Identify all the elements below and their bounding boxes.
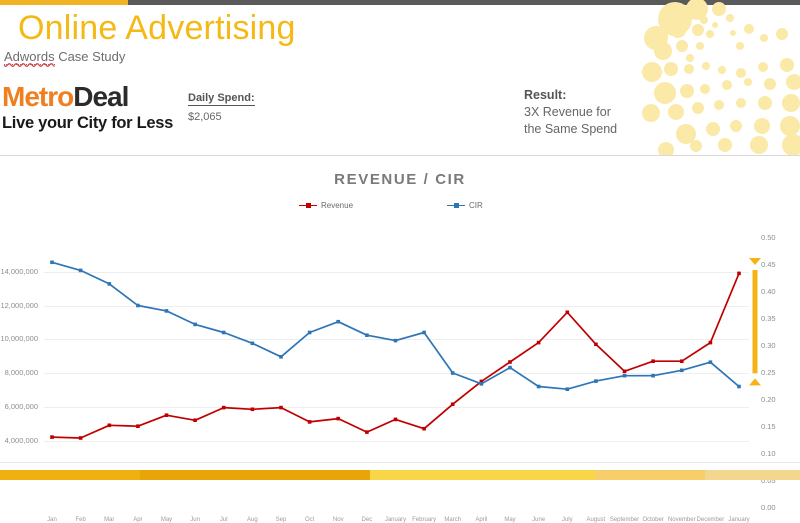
y-axis-left-tick-label: 4,000,000: [0, 436, 38, 445]
chart-data-point[interactable]: [680, 359, 684, 363]
chart-data-point[interactable]: [108, 282, 112, 286]
header: Online Advertising Adwords Case Study Me…: [0, 5, 800, 155]
chart-data-point[interactable]: [737, 385, 741, 389]
chart-data-point[interactable]: [79, 269, 83, 273]
chart-data-point[interactable]: [336, 417, 340, 421]
y-axis-right-tick-label: 0.35: [761, 314, 776, 323]
daily-spend-block: Daily Spend: $2,065: [188, 88, 255, 123]
chart-data-point[interactable]: [222, 406, 226, 410]
footer-segment: [370, 470, 595, 480]
chart-data-point[interactable]: [279, 355, 283, 359]
y-axis-right-tick-label: 0.10: [761, 449, 776, 458]
y-axis-left-tick-label: 8,000,000: [0, 368, 38, 377]
result-block: Result: 3X Revenue for the Same Spend: [524, 88, 617, 139]
chart-data-point[interactable]: [165, 309, 169, 313]
chart-data-point[interactable]: [279, 406, 283, 410]
x-axis-tick-label: January: [711, 517, 767, 523]
footer-divider: [0, 462, 800, 463]
chart-title: REVENUE / CIR: [0, 171, 800, 188]
daily-spend-value: $2,065: [188, 111, 255, 123]
result-value: 3X Revenue for the Same Spend: [524, 104, 617, 139]
logo-tagline: Live your City for Less: [2, 114, 177, 133]
chart-data-point[interactable]: [651, 359, 655, 363]
chart-data-point[interactable]: [451, 402, 455, 406]
footer-segment: [705, 470, 800, 480]
footer-segment: [140, 470, 370, 480]
chart-data-point[interactable]: [108, 424, 112, 428]
y-axis-right-tick-label: 0.50: [761, 233, 776, 242]
legend-item-revenue[interactable]: Revenue: [299, 200, 353, 210]
legend-label-revenue: Revenue: [321, 201, 353, 210]
chart-data-point[interactable]: [422, 427, 426, 431]
subtitle-misspelled-word: Adwords: [4, 49, 55, 65]
chart-data-point[interactable]: [336, 320, 340, 324]
y-axis-right-tick-label: 0.40: [761, 287, 776, 296]
chart-data-point[interactable]: [680, 369, 684, 373]
y-axis-right-tick-label: 0.25: [761, 368, 776, 377]
y-axis-left-tick-label: 12,000,000: [0, 301, 38, 310]
legend-item-cir[interactable]: CIR: [447, 200, 483, 210]
chart-series-svg: [44, 238, 749, 508]
page-title: Online Advertising: [18, 9, 296, 48]
chart-line-revenue: [52, 273, 739, 438]
footer-segment: [595, 470, 705, 480]
chart-data-point[interactable]: [193, 418, 197, 422]
chart-data-point[interactable]: [193, 323, 197, 327]
result-label: Result:: [524, 88, 617, 102]
legend-marker-cir: [447, 200, 465, 210]
footer-segment: [0, 470, 140, 480]
chart-data-point[interactable]: [165, 413, 169, 417]
chart-data-point[interactable]: [537, 385, 541, 389]
y-axis-right-tick-label: 0.15: [761, 422, 776, 431]
chart-data-point[interactable]: [308, 331, 312, 335]
chart-data-point[interactable]: [308, 420, 312, 424]
chart-data-point[interactable]: [508, 360, 512, 364]
y-axis-right-tick-label: 0.30: [761, 341, 776, 350]
y-axis-right-tick-label: 0.45: [761, 260, 776, 269]
chart-data-point[interactable]: [394, 418, 398, 422]
page-subtitle: Adwords Case Study: [4, 49, 125, 64]
annotation-arrow-head: [749, 378, 761, 385]
y-axis-right-tick-label: 0.00: [761, 503, 776, 512]
chart-data-point[interactable]: [594, 379, 598, 383]
chart-data-point[interactable]: [222, 331, 226, 335]
legend-marker-revenue: [299, 200, 317, 210]
chart-plot-area: 14,000,00012,000,00010,000,0008,000,0006…: [44, 238, 749, 508]
chart-data-point[interactable]: [737, 272, 741, 276]
chart-data-point[interactable]: [50, 435, 54, 439]
chart-data-point[interactable]: [566, 311, 570, 315]
subtitle-rest: Case Study: [55, 49, 126, 64]
chart-data-point[interactable]: [50, 261, 54, 265]
chart-data-point[interactable]: [365, 333, 369, 337]
chart-data-point[interactable]: [480, 382, 484, 386]
footer-accent-bar: [0, 470, 800, 480]
chart-data-point[interactable]: [651, 374, 655, 378]
chart-data-point[interactable]: [709, 360, 713, 364]
revenue-cir-chart: REVENUE / CIR Revenue CIR 14,000,00012,0…: [0, 156, 800, 462]
chart-data-point[interactable]: [251, 342, 255, 346]
chart-data-point[interactable]: [136, 424, 140, 428]
chart-data-point[interactable]: [394, 339, 398, 343]
chart-data-point[interactable]: [623, 374, 627, 378]
chart-data-point[interactable]: [508, 366, 512, 370]
chart-data-point[interactable]: [623, 370, 627, 374]
chart-data-point[interactable]: [451, 371, 455, 375]
chart-data-point[interactable]: [594, 343, 598, 347]
legend-label-cir: CIR: [469, 201, 483, 210]
logo-word-metro: Metro: [2, 81, 73, 112]
chart-data-point[interactable]: [365, 430, 369, 434]
logo-word-deal: Deal: [73, 81, 128, 112]
metrodeal-logo: MetroDeal Live your City for Less: [2, 83, 177, 133]
annotation-arrow-head: [749, 258, 761, 265]
chart-data-point[interactable]: [537, 341, 541, 345]
chart-legend: Revenue CIR: [0, 200, 800, 214]
chart-data-point[interactable]: [251, 408, 255, 412]
y-axis-left-tick-label: 6,000,000: [0, 402, 38, 411]
y-axis-left-tick-label: 14,000,000: [0, 267, 38, 276]
chart-data-point[interactable]: [566, 387, 570, 391]
daily-spend-label: Daily Spend:: [188, 92, 255, 106]
logo-wordmark: MetroDeal: [2, 83, 177, 111]
y-axis-right-tick-label: 0.20: [761, 395, 776, 404]
chart-data-point[interactable]: [79, 436, 83, 440]
chart-line-cir: [52, 262, 739, 389]
chart-data-point[interactable]: [422, 331, 426, 335]
chart-data-point[interactable]: [136, 304, 140, 308]
chart-data-point[interactable]: [709, 341, 713, 345]
y-axis-left-tick-label: 10,000,000: [0, 334, 38, 343]
